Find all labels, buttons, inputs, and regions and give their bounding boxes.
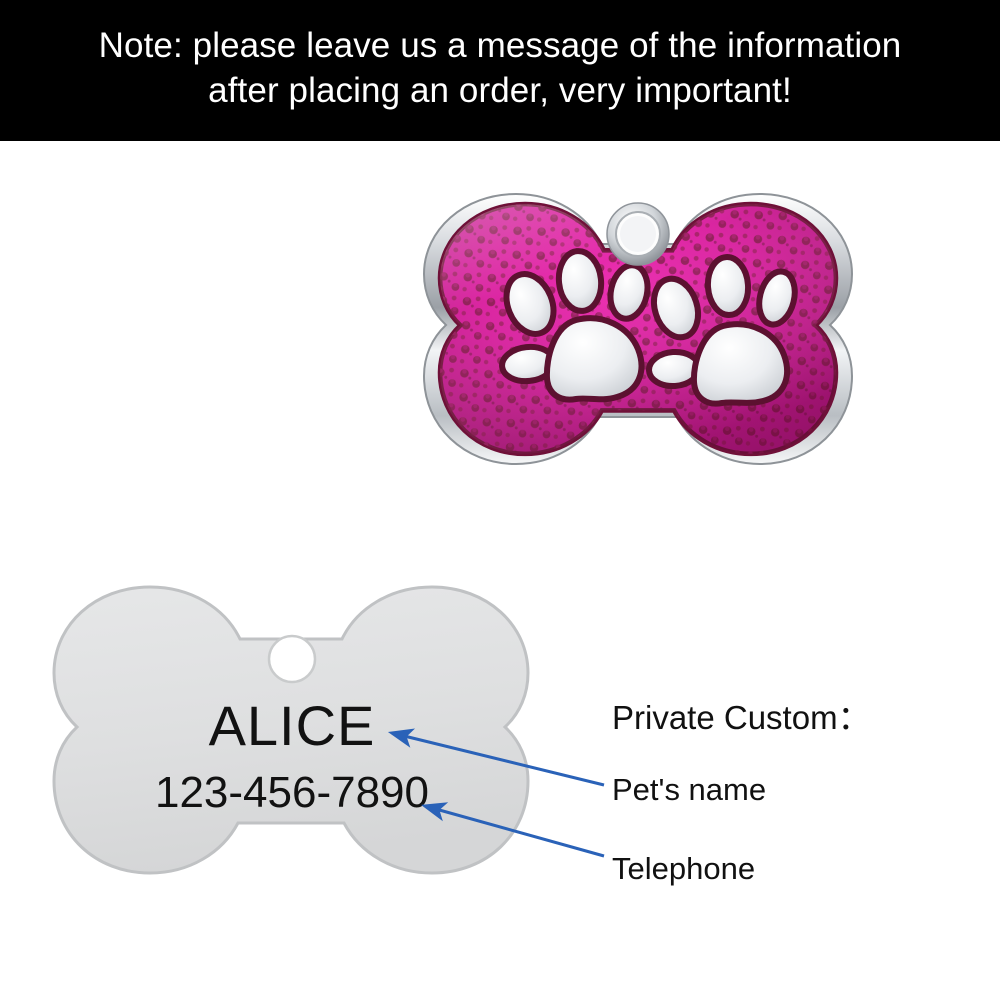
callout-telephone-label: Telephone <box>612 853 992 884</box>
callout-pet-name-label: Pet's name <box>612 774 992 805</box>
note-banner-line-2: after placing an order, very important! <box>208 69 792 114</box>
note-banner-line-1: Note: please leave us a message of the i… <box>99 24 902 69</box>
gray-bone-tag-graphic <box>26 581 578 933</box>
callout-label-group: Private Custom： Pet's name Telephone <box>612 701 992 932</box>
engraved-telephone: 123-456-7890 <box>62 771 522 815</box>
pink-bone-tag-graphic <box>398 186 878 516</box>
pink-tag-attachment-hole <box>607 203 669 265</box>
gray-tag-attachment-hole <box>269 636 315 682</box>
callout-title: Private Custom： <box>612 701 992 734</box>
note-banner: Note: please leave us a message of the i… <box>0 0 1000 141</box>
engraved-pet-name: ALICE <box>62 698 522 754</box>
gray-bone-tag: ALICE 123-456-7890 <box>26 581 578 933</box>
pink-bone-tag <box>398 186 878 516</box>
product-photo-stage: ALICE 123-456-7890 Private Custom： Pet's… <box>0 141 1000 1000</box>
